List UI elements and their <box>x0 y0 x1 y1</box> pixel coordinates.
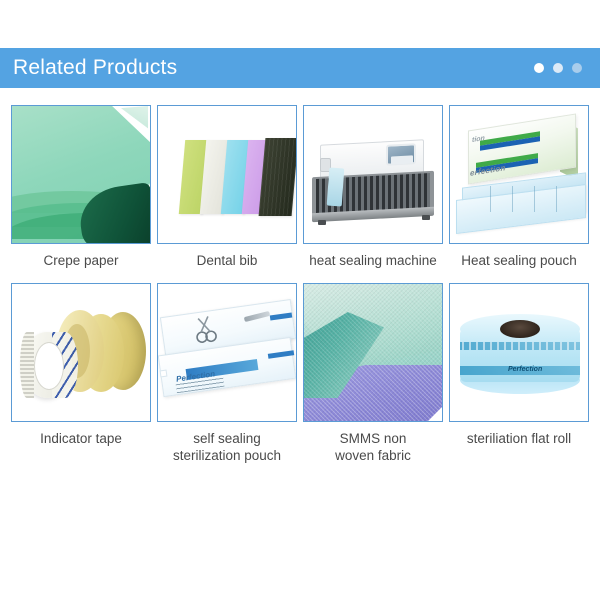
product-thumbnail-frame[interactable] <box>157 105 297 244</box>
carousel-dot-2[interactable] <box>553 63 563 73</box>
product-thumbnail-frame[interactable] <box>11 105 151 244</box>
product-thumbnail-frame[interactable]: tion erfection <box>449 105 589 244</box>
product-label: Indicator tape <box>8 430 154 447</box>
product-label: steriliation flat roll <box>446 430 592 447</box>
heat-sealing-machine-photo <box>304 106 442 243</box>
carousel-dots[interactable] <box>534 63 586 73</box>
heat-sealing-pouch-photo: tion erfection <box>450 106 588 243</box>
self-sealing-sterilization-pouch-photo: Perfection <box>158 284 296 421</box>
smms-non-woven-fabric-photo <box>304 284 442 421</box>
product-card[interactable]: SMMS non woven fabric <box>300 283 446 464</box>
product-thumbnail-frame[interactable]: Perfection <box>449 283 589 422</box>
section-header: Related Products <box>0 48 600 88</box>
product-card[interactable]: Perfection steriliation flat roll <box>446 283 592 464</box>
page-title: Related Products <box>13 57 177 80</box>
product-thumbnail-frame[interactable] <box>303 283 443 422</box>
product-card[interactable]: tion erfection Heat sealing pouch <box>446 105 592 269</box>
product-card[interactable]: Dental bib <box>154 105 300 269</box>
product-card[interactable]: Crepe paper <box>8 105 154 269</box>
product-label: SMMS non woven fabric <box>300 430 446 464</box>
product-grid: Crepe paper Dental bib <box>8 105 592 464</box>
product-label: heat sealing machine <box>300 252 446 269</box>
carousel-dot-3[interactable] <box>572 63 582 73</box>
dental-bib-photo <box>158 106 296 243</box>
product-thumbnail-frame[interactable] <box>11 283 151 422</box>
related-products-panel: Related Products Crepe paper <box>0 0 600 600</box>
row-spacer <box>8 269 592 283</box>
product-label: Heat sealing pouch <box>446 252 592 269</box>
product-thumbnail-frame[interactable]: Perfection <box>157 283 297 422</box>
indicator-tape-photo <box>12 284 150 421</box>
product-label: self sealing sterilization pouch <box>154 430 300 464</box>
carousel-dot-1[interactable] <box>534 63 544 73</box>
product-label: Dental bib <box>154 252 300 269</box>
product-label: Crepe paper <box>8 252 154 269</box>
sterilization-flat-roll-photo: Perfection <box>450 284 588 421</box>
product-thumbnail-frame[interactable] <box>303 105 443 244</box>
crepe-paper-photo <box>12 106 150 243</box>
product-card[interactable]: heat sealing machine <box>300 105 446 269</box>
product-card[interactable]: Indicator tape <box>8 283 154 464</box>
product-card[interactable]: Perfection self sealing sterilization po… <box>154 283 300 464</box>
